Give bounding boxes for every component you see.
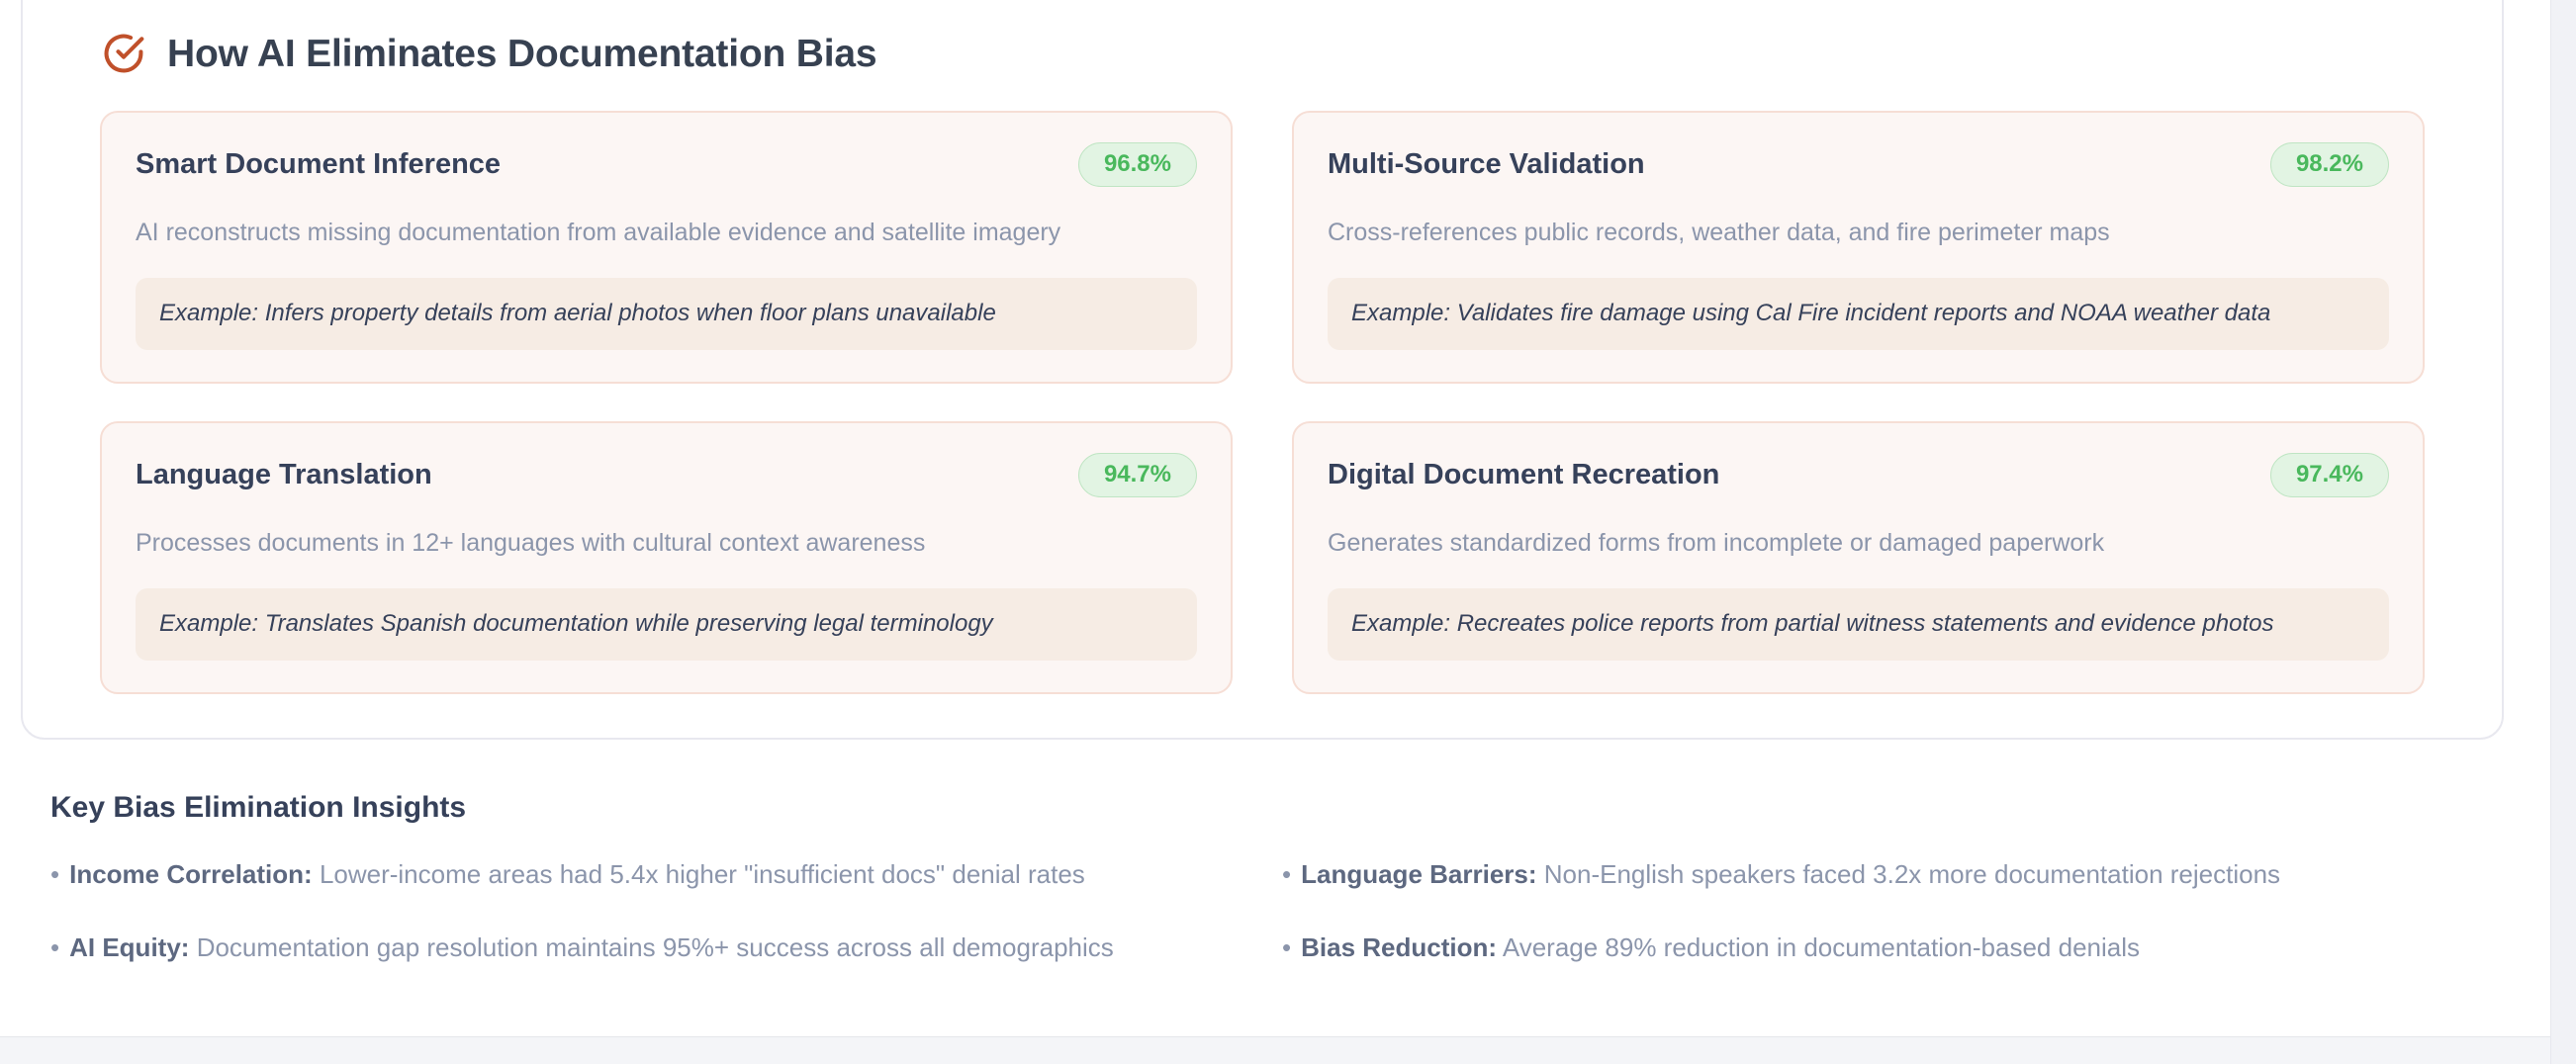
insight-text: Documentation gap resolution maintains 9… [197,932,1114,962]
ai-documentation-bias-panel: How AI Eliminates Documentation Bias Sma… [21,0,2504,740]
insights-title: Key Bias Elimination Insights [50,791,2484,825]
card-title: Smart Document Inference [136,147,501,182]
bullet-icon: • [1282,861,1291,887]
card-header: Smart Document Inference 96.8% [136,142,1197,187]
card-header: Digital Document Recreation 97.4% [1328,453,2389,497]
card-description: AI reconstructs missing documentation fr… [136,217,1197,250]
card-description: Cross-references public records, weather… [1328,217,2389,250]
panel-header: How AI Eliminates Documentation Bias [72,2,2452,111]
page-content: How AI Eliminates Documentation Bias Sma… [0,0,2550,1064]
card-title: Language Translation [136,458,432,492]
insights-grid: • Income Correlation: Lower-income areas… [50,858,2484,965]
insight-text: Average 89% reduction in documentation-b… [1503,932,2140,962]
card-title: Multi-Source Validation [1328,147,1645,182]
circle-check-icon [102,32,145,75]
feature-card-grid: Smart Document Inference 96.8% AI recons… [72,111,2452,694]
status-badge: 97.4% [2270,453,2389,497]
card-example: Example: Validates fire damage using Cal… [1328,278,2389,350]
status-badge: 96.8% [1078,142,1197,187]
bullet-icon: • [50,861,59,887]
card-example: Example: Recreates police reports from p… [1328,588,2389,661]
feature-card-smart-document-inference[interactable]: Smart Document Inference 96.8% AI recons… [100,111,1233,384]
card-example: Example: Translates Spanish documentatio… [136,588,1197,661]
status-badge: 98.2% [2270,142,2389,187]
insight-label: Income Correlation: [69,859,313,889]
feature-card-language-translation[interactable]: Language Translation 94.7% Processes doc… [100,421,1233,694]
feature-card-multi-source-validation[interactable]: Multi-Source Validation 98.2% Cross-refe… [1292,111,2425,384]
insight-text: Non-English speakers faced 3.2x more doc… [1544,859,2280,889]
card-description: Processes documents in 12+ languages wit… [136,527,1197,561]
card-example: Example: Infers property details from ae… [136,278,1197,350]
bullet-icon: • [1282,934,1291,960]
insight-text: Lower-income areas had 5.4x higher "insu… [320,859,1085,889]
page-title: How AI Eliminates Documentation Bias [167,35,876,73]
card-header: Language Translation 94.7% [136,453,1197,497]
insight-label: Language Barriers: [1301,859,1536,889]
insight-label: Bias Reduction: [1301,932,1497,962]
bullet-icon: • [50,934,59,960]
bottom-strip [0,1037,2550,1064]
list-item: • Language Barriers: Non-English speaker… [1282,858,2484,892]
status-badge: 94.7% [1078,453,1197,497]
card-title: Digital Document Recreation [1328,458,1719,492]
list-item: • AI Equity: Documentation gap resolutio… [50,931,1252,965]
insight-label: AI Equity: [69,932,189,962]
card-header: Multi-Source Validation 98.2% [1328,142,2389,187]
vertical-scrollbar[interactable] [2550,0,2576,1064]
list-item: • Bias Reduction: Average 89% reduction … [1282,931,2484,965]
list-item: • Income Correlation: Lower-income areas… [50,858,1252,892]
page-root: How AI Eliminates Documentation Bias Sma… [0,0,2576,1064]
feature-card-digital-document-recreation[interactable]: Digital Document Recreation 97.4% Genera… [1292,421,2425,694]
card-description: Generates standardized forms from incomp… [1328,527,2389,561]
key-insights-section: Key Bias Elimination Insights • Income C… [50,791,2484,965]
